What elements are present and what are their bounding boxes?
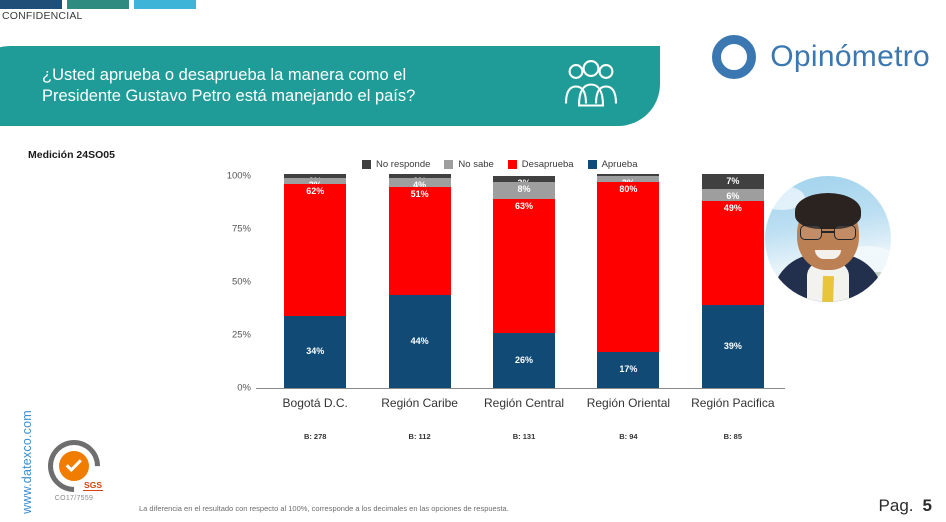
x-axis-tick — [256, 388, 264, 389]
bar-value-label: 62% — [306, 184, 324, 196]
category-label: Región Caribe — [367, 396, 471, 410]
color-bar-cyan — [134, 0, 196, 9]
y-axis-tick: 100% — [227, 171, 251, 182]
legend-item[interactable]: Aprueba — [588, 159, 638, 170]
category-label: Región Pacifica — [681, 396, 785, 410]
chart-column: 1%3%80%17% — [576, 176, 680, 388]
base-count-label: B: 131 — [472, 432, 576, 441]
sgs-badge-icon: SGS — [48, 440, 100, 490]
legend-label: No sabe — [458, 159, 493, 170]
category-label: Región Oriental — [576, 396, 680, 410]
color-bar-green — [67, 0, 129, 9]
legend-swatch-icon — [508, 160, 517, 169]
chart-column: 3%8%63%26% — [472, 176, 576, 388]
glasses-icon — [800, 225, 856, 240]
people-group-icon — [562, 60, 620, 113]
page-number: Pag.5 — [879, 496, 932, 516]
bar-segment[interactable]: 34% — [284, 316, 346, 388]
legend-label: Desaprueba — [522, 159, 574, 170]
logo-text: Opinómetro — [770, 40, 930, 74]
question-banner: ¿Usted aprueba o desaprueba la manera co… — [0, 46, 660, 126]
stacked-bar[interactable]: 3%8%63%26% — [493, 176, 555, 388]
bar-value-label: 80% — [619, 182, 637, 194]
base-counts: B: 278B: 112B: 131B: 94B: 85 — [263, 432, 785, 441]
bar-segment[interactable]: 49% — [702, 201, 764, 305]
y-axis-tick: 50% — [232, 277, 251, 288]
website-vertical-label[interactable]: www.datexco.com — [20, 407, 34, 517]
bar-value-label: 6% — [726, 189, 739, 201]
legend-swatch-icon — [588, 160, 597, 169]
photo-hair — [795, 193, 861, 229]
stacked-bar-chart: 0%25%50%75%100% 2%3%62%34%2%4%51%44%3%8%… — [215, 176, 785, 396]
bar-value-label: 63% — [515, 199, 533, 211]
sgs-certification: SGS CO17/7559 — [45, 440, 103, 502]
bar-value-label: 7% — [726, 174, 739, 186]
question-line-2: Presidente Gustavo Petro está manejando … — [42, 86, 415, 107]
bar-segment[interactable]: 6% — [702, 189, 764, 202]
bar-segment[interactable]: 51% — [389, 187, 451, 295]
legend-swatch-icon — [444, 160, 453, 169]
bar-segment[interactable]: 62% — [284, 184, 346, 315]
chart-column: 2%3%62%34% — [263, 176, 367, 388]
measurement-label: Medición 24SO05 — [28, 149, 115, 161]
confidential-label: CONFIDENCIAL — [2, 10, 83, 22]
bar-segment[interactable]: 39% — [702, 305, 764, 388]
sgs-wordmark: SGS — [83, 481, 103, 491]
ring-icon — [712, 35, 756, 79]
stacked-bar[interactable]: 1%3%80%17% — [597, 174, 659, 388]
legend-swatch-icon — [362, 160, 371, 169]
chart-legend: No respondeNo sabeDesapruebaAprueba — [362, 159, 637, 170]
question-line-1: ¿Usted aprueba o desaprueba la manera co… — [42, 65, 415, 86]
bar-value-label: 34% — [306, 347, 324, 356]
bar-value-label: 26% — [515, 356, 533, 365]
base-count-label: B: 112 — [367, 432, 471, 441]
y-axis-tick: 75% — [232, 224, 251, 235]
bar-segment[interactable]: 8% — [493, 182, 555, 199]
bar-segment[interactable]: 26% — [493, 333, 555, 388]
page-label: Pag. — [879, 496, 914, 515]
chart-column: 2%4%51%44% — [367, 176, 471, 388]
x-axis-line — [256, 388, 785, 389]
category-labels: Bogotá D.C.Región CaribeRegión CentralRe… — [263, 396, 785, 410]
photo-tie — [822, 276, 834, 302]
stacked-bar[interactable]: 2%3%62%34% — [284, 174, 346, 388]
top-color-bars — [0, 0, 196, 9]
bar-segment[interactable]: 7% — [702, 174, 764, 189]
base-count-label: B: 85 — [681, 432, 785, 441]
base-count-label: B: 278 — [263, 432, 367, 441]
bar-segment[interactable]: 80% — [597, 182, 659, 352]
bar-value-label: 51% — [411, 187, 429, 199]
color-bar-blue — [0, 0, 62, 9]
plot-area: 2%3%62%34%2%4%51%44%3%8%63%26%1%3%80%17%… — [263, 176, 785, 388]
question-text: ¿Usted aprueba o desaprueba la manera co… — [42, 65, 415, 107]
bar-segment[interactable]: 17% — [597, 352, 659, 388]
legend-item[interactable]: No responde — [362, 159, 430, 170]
y-axis-tick: 0% — [237, 383, 251, 394]
bar-value-label: 8% — [518, 182, 531, 194]
bar-value-label: 17% — [619, 365, 637, 374]
legend-label: Aprueba — [602, 159, 638, 170]
bar-segment[interactable]: 63% — [493, 199, 555, 333]
certification-code: CO17/7559 — [45, 495, 103, 502]
opinometro-logo: Opinómetro — [712, 35, 930, 79]
president-photo — [765, 176, 891, 302]
stacked-bar[interactable]: 7%6%49%39% — [702, 174, 764, 388]
bar-segment[interactable]: 4% — [389, 178, 451, 186]
stacked-bar[interactable]: 2%4%51%44% — [389, 174, 451, 388]
page-value: 5 — [923, 496, 932, 515]
legend-item[interactable]: No sabe — [444, 159, 493, 170]
bar-value-label: 49% — [724, 201, 742, 213]
legend-item[interactable]: Desaprueba — [508, 159, 574, 170]
bar-value-label: 39% — [724, 342, 742, 351]
category-label: Bogotá D.C. — [263, 396, 367, 410]
bar-value-label: 44% — [411, 337, 429, 346]
y-axis: 0%25%50%75%100% — [215, 176, 255, 388]
base-count-label: B: 94 — [576, 432, 680, 441]
bar-segment[interactable]: 44% — [389, 295, 451, 388]
y-axis-tick: 25% — [232, 330, 251, 341]
legend-label: No responde — [376, 159, 430, 170]
category-label: Región Central — [472, 396, 576, 410]
footer-note: La diferencia en el resultado con respec… — [139, 504, 509, 513]
